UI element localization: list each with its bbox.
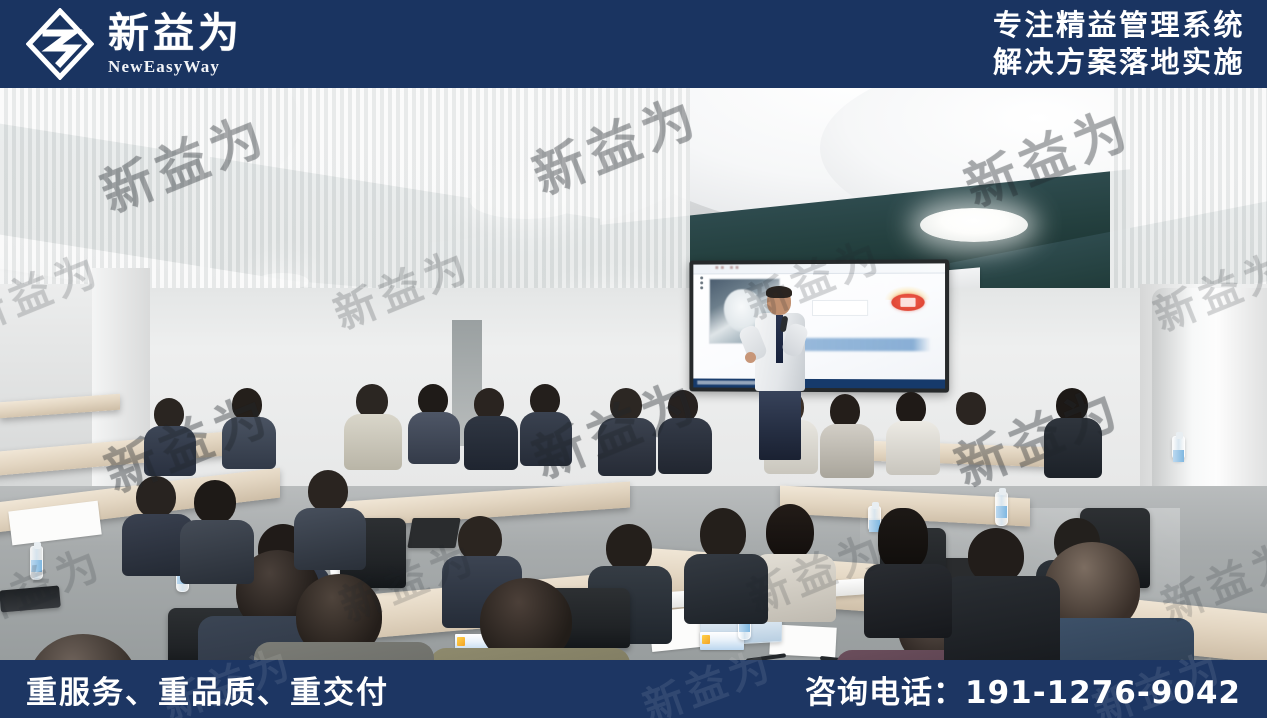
slogan-line-1: 专注精益管理系统	[993, 8, 1245, 43]
laptop	[407, 518, 460, 548]
person-head	[766, 504, 814, 560]
person-head	[610, 388, 642, 422]
newEasyWay-diamond-logo-icon	[26, 8, 94, 80]
person-torso	[864, 564, 952, 638]
water-bottle	[1172, 436, 1185, 460]
projector-screen-surface: ■■ ■■	[693, 263, 945, 388]
person-torso	[344, 414, 402, 470]
person-torso	[430, 648, 630, 660]
header-slogan: 专注精益管理系统 解决方案落地实施	[993, 8, 1267, 81]
person-head	[136, 476, 176, 518]
slide-logo-badge	[884, 286, 931, 312]
person-torso	[222, 417, 276, 469]
person-head	[830, 394, 860, 428]
person-torso	[886, 421, 940, 475]
person-torso	[464, 416, 518, 470]
presenter-legs	[759, 388, 801, 460]
person-torso	[820, 424, 874, 478]
wall-curtain	[1110, 88, 1267, 288]
person-head	[1056, 388, 1088, 422]
water-bottle	[30, 546, 43, 580]
brand-name-en: NewEasyWay	[108, 57, 220, 77]
photo-content: ■■ ■■	[0, 88, 1267, 660]
slogan-line-2: 解决方案落地实施	[993, 45, 1245, 80]
person-torso	[144, 426, 196, 476]
person-torso	[944, 576, 1060, 660]
person-head	[308, 470, 348, 512]
presenter-hair	[766, 286, 792, 298]
badge-oval	[891, 294, 924, 311]
person-torso	[408, 412, 460, 464]
slide-footer-bar	[693, 379, 945, 389]
person-torso	[180, 520, 254, 584]
person-head	[606, 524, 652, 572]
person-torso	[294, 508, 366, 570]
presenter	[745, 288, 815, 458]
screenshot-root: 新益为 NewEasyWay 专注精益管理系统 解决方案落地实施	[0, 0, 1267, 718]
person-head	[878, 508, 928, 570]
person-head	[700, 508, 746, 560]
brand-logo[interactable]: 新益为 NewEasyWay	[0, 8, 243, 80]
ceiling-light	[920, 208, 1028, 242]
slide-bullet-dots	[700, 276, 703, 289]
projector-screen: ■■ ■■	[689, 259, 949, 392]
slide-title-blurred: ■■ ■■	[715, 265, 741, 271]
presenter-hand	[745, 352, 756, 363]
person-torso	[658, 418, 712, 474]
wall-curtain	[0, 88, 210, 288]
person-torso	[1044, 418, 1102, 478]
page-header: 新益为 NewEasyWay 专注精益管理系统 解决方案落地实施	[0, 0, 1267, 88]
slide-content-box	[812, 300, 868, 316]
person-head	[194, 480, 236, 524]
person-torso	[598, 418, 656, 476]
water-bottle	[995, 492, 1008, 526]
person-torso	[520, 412, 572, 466]
wall-curtain	[530, 88, 690, 288]
training-scene-photo: ■■ ■■	[0, 88, 1267, 660]
person-torso	[684, 554, 768, 624]
person-torso	[946, 421, 1000, 477]
brand-name-cn: 新益为	[108, 13, 243, 55]
wall-curtain	[200, 88, 530, 288]
page-footer: 新益为 新益为 新益为 重服务、重品质、重交付 咨询电话：191-1276-90…	[0, 660, 1267, 718]
person-head	[356, 384, 388, 418]
brand-wordmark: 新益为 NewEasyWay	[108, 11, 243, 77]
